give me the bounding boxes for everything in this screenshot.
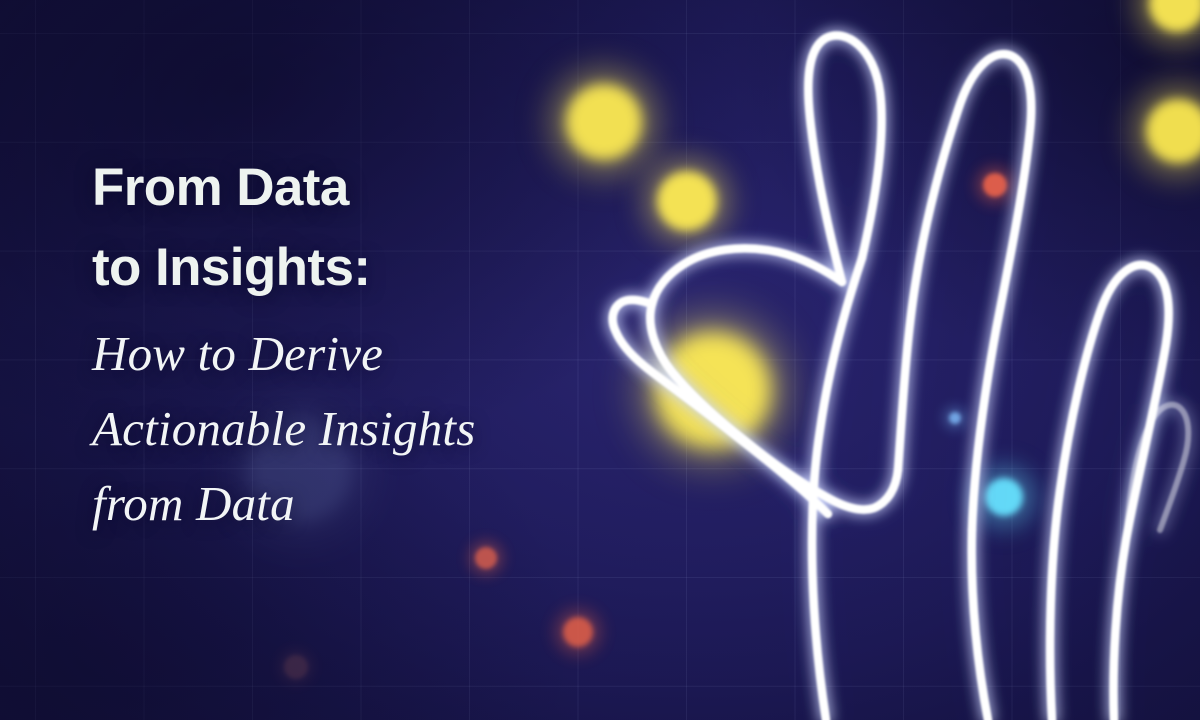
- red-dot-faint-bottom: [284, 655, 308, 679]
- subhead-line-1: How to Derive: [92, 317, 652, 392]
- headline-line-2: to Insights:: [92, 228, 652, 308]
- blue-spark-knuckle: [949, 412, 961, 424]
- yellow-dot-hero-pinch: [655, 332, 771, 448]
- subhead-line-2: Actionable Insights: [92, 392, 652, 467]
- hero-text-block: From Data to Insights: How to Derive Act…: [92, 148, 652, 542]
- red-dot-finger: [983, 173, 1007, 197]
- red-dot-lower-left: [475, 547, 497, 569]
- headline-line-1: From Data: [92, 148, 652, 228]
- yellow-dot-medium-upper: [657, 171, 717, 231]
- page-title: From Data to Insights:: [92, 148, 652, 307]
- cyan-dot-palm: [985, 478, 1023, 516]
- hero-banner: From Data to Insights: How to Derive Act…: [0, 0, 1200, 720]
- page-subtitle: How to Derive Actionable Insights from D…: [92, 317, 652, 542]
- subhead-line-3: from Data: [92, 467, 652, 542]
- red-dot-lower-mid: [563, 617, 593, 647]
